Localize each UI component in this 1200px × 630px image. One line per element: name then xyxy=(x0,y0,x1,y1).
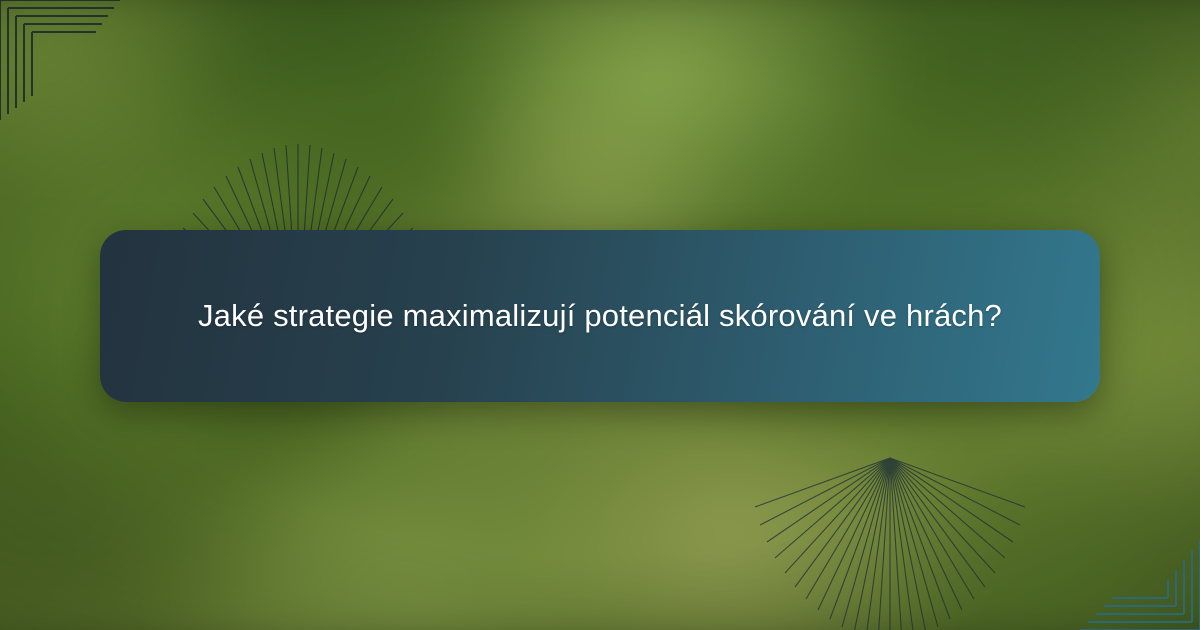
headline-card: Jaké strategie maximalizují potenciál sk… xyxy=(100,230,1100,402)
social-card-canvas: Jaké strategie maximalizují potenciál sk… xyxy=(0,0,1200,630)
page-title: Jaké strategie maximalizují potenciál sk… xyxy=(170,291,1030,341)
